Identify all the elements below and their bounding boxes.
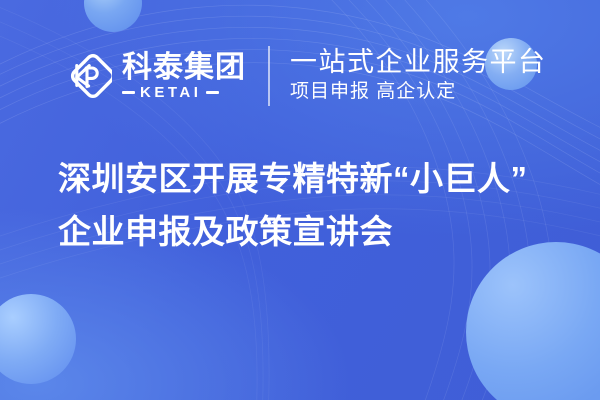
brand-logo: 科泰集团 KETAI [56, 48, 246, 104]
rule-right-icon [206, 91, 219, 94]
page-title-line-1: 深圳安区开展专精特新“小巨人” [58, 152, 558, 205]
header-divider [268, 46, 270, 106]
brand-name-cn: 科泰集团 [122, 53, 246, 84]
banner-header: 科泰集团 KETAI 一站式企业服务平台 项目申报 高企认定 [56, 44, 547, 108]
tagline-block: 一站式企业服务平台 项目申报 高企认定 [290, 47, 547, 105]
brand-logo-text: 科泰集团 KETAI [122, 53, 246, 101]
ketai-diamond-kp-monogram-icon [56, 48, 112, 104]
brand-name-en-row: KETAI [122, 85, 246, 100]
tagline-main: 一站式企业服务平台 [290, 47, 547, 77]
page-title: 深圳安区开展专精特新“小巨人” 企业申报及政策宣讲会 [58, 152, 558, 259]
tagline-sub: 项目申报 高企认定 [290, 80, 547, 105]
promo-banner: 科泰集团 KETAI 一站式企业服务平台 项目申报 高企认定 深圳安区开展专精特… [0, 0, 600, 400]
brand-name-en: KETAI [140, 85, 201, 100]
page-title-line-2: 企业申报及政策宣讲会 [58, 205, 558, 258]
rule-left-icon [122, 91, 135, 94]
